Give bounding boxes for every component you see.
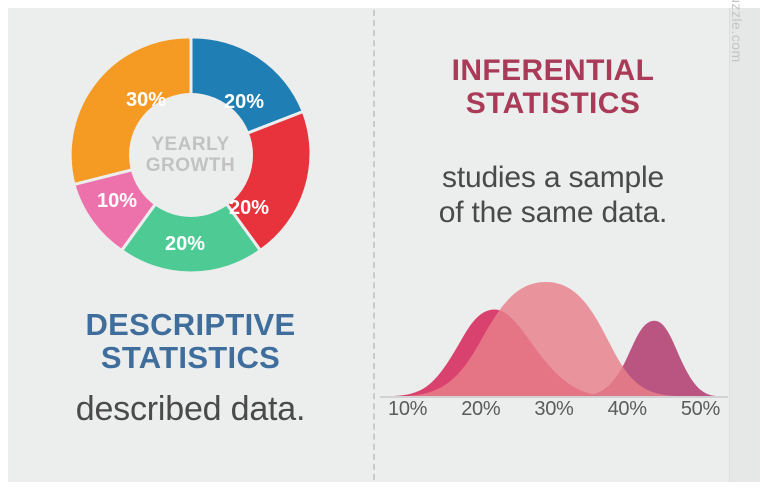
watermark-rail: Buzzle.com <box>729 8 760 482</box>
descriptive-heading-line1: DESCRIPTIVE <box>85 307 295 342</box>
distribution-axis-ticks: 10% 20% 30% 40% 50% <box>380 398 728 421</box>
yearly-growth-donut-chart: 20% 20% 20% 10% 30% YEARLY GROWTH <box>66 30 316 280</box>
donut-label-blue: 20% <box>223 91 263 113</box>
inferential-subtitle-line1: studies a sample <box>442 161 664 194</box>
axis-tick-30: 30% <box>534 398 573 421</box>
donut-label-pink: 10% <box>96 190 136 212</box>
axis-tick-10: 10% <box>388 398 427 421</box>
axis-tick-40: 40% <box>608 398 647 421</box>
distribution-svg <box>380 266 728 404</box>
donut-label-red: 20% <box>228 197 268 219</box>
inferential-heading-line2: STATISTICS <box>376 87 730 120</box>
panel-divider <box>373 10 375 480</box>
infographic-root: 20% 20% 20% 10% 30% YEARLY GROWTH DESCRI… <box>0 0 768 490</box>
descriptive-panel: 20% 20% 20% 10% 30% YEARLY GROWTH DESCRI… <box>8 8 373 482</box>
donut-svg: 20% 20% 20% 10% 30% <box>66 30 316 280</box>
axis-tick-20: 20% <box>461 398 500 421</box>
descriptive-subtitle: described data. <box>8 390 373 429</box>
donut-label-orange: 30% <box>125 89 165 111</box>
inferential-heading-line1: INFERENTIAL <box>452 54 655 87</box>
axis-tick-50: 50% <box>681 398 720 421</box>
inferential-subtitle: studies a sample of the same data. <box>376 160 730 231</box>
watermark-label: Buzzle.com <box>729 0 745 63</box>
descriptive-heading-line2: STATISTICS <box>8 341 373 374</box>
donut-label-green: 20% <box>164 233 204 255</box>
inferential-panel: INFERENTIAL STATISTICS studies a sample … <box>376 8 730 482</box>
distribution-curves-chart <box>380 266 728 404</box>
inferential-subtitle-line2: of the same data. <box>376 195 730 230</box>
inferential-heading: INFERENTIAL STATISTICS <box>376 54 730 120</box>
descriptive-heading: DESCRIPTIVE STATISTICS <box>8 308 373 375</box>
